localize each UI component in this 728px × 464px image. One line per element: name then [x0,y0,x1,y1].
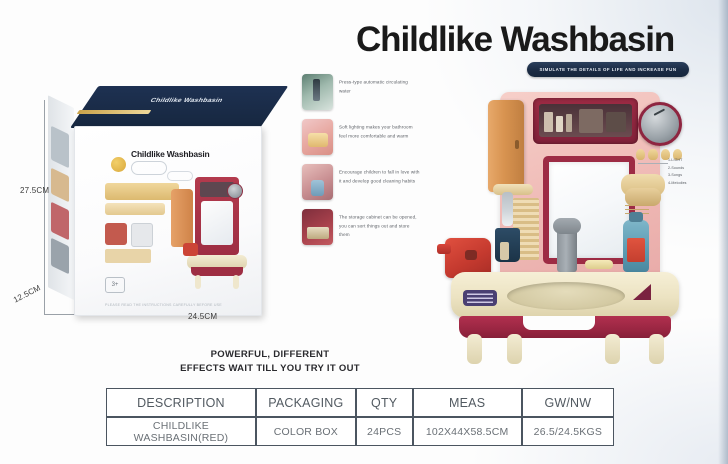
callout-item: 4-Melodies [668,180,724,188]
feature-text: The storage cabinet can be opened, you c… [339,209,420,239]
table-header-cell: MEAS [413,388,522,417]
product-leg [605,334,620,364]
package-art-square-1 [105,223,127,245]
callout-item: 3-Songs [668,172,724,180]
product-sell-sheet: Childlike Washbasin SIMULATE THE DETAILS… [0,0,728,464]
table-header-row: DESCRIPTION PACKAGING QTY MEAS GW/NW [106,388,614,417]
callout-list: 1-LIGHT 2-Sounds 3-Songs 4-Melodies [668,157,724,187]
clock-icon [227,183,243,199]
age-badge: 3+ [105,277,125,293]
spec-table: DESCRIPTION PACKAGING QTY MEAS GW/NW CHI… [106,388,614,446]
package-front-brand: Childlike Washbasin [131,149,251,159]
feature-thumb-cabinet [302,209,333,245]
toy-cabinet [171,189,193,247]
package-art-band-2 [105,203,165,215]
callout-leader-line [638,163,668,164]
package-toy-illustration [171,171,247,289]
page-title: Childlike Washbasin [356,22,696,59]
package-footnote: PLEASE READ THE INSTRUCTIONS CAREFULLY B… [105,303,245,307]
feature-item: The storage cabinet can be opened, you c… [302,209,420,245]
product-wave-decal [463,290,497,306]
product-towel [493,184,533,195]
cloud-icon [131,161,167,175]
table-header-cell: PACKAGING [256,388,356,417]
toy-kettle [183,243,198,256]
table-cell-description: CHILDLIKE WASHBASIN(RED) [106,417,256,446]
package-top-brand: Childlike Washbasin [124,98,248,105]
product-leg [507,334,522,364]
table-cell-meas: 102X44X58.5CM [413,417,522,446]
table-header-cell: DESCRIPTION [106,388,256,417]
faucet-head [553,218,581,234]
feature-item: Press-type automatic circulating water [302,74,420,110]
subtitle-ribbon-label: SIMULATE THE DETAILS OF LIFE AND INCREAS… [539,67,676,72]
tagline: POWERFUL, DIFFERENT EFFECTS WAIT TILL YO… [150,348,390,376]
product-bottle-cap [629,212,643,222]
dimension-width-label: 24.5CM [188,312,217,321]
shelf-item-5 [606,112,626,132]
table-cell-gwnw: 26.5/24.5KGS [522,417,614,446]
package-top-stripe [77,110,152,114]
package-box-mockup: Childlike Washbasin Childlike Washbasin [48,86,278,321]
toy-leg-right [233,275,239,289]
dimension-height-label: 27.5CM [20,186,49,195]
feature-item: Encourage children to fall in love with … [302,164,420,200]
package-front-face: Childlike Washbasin 3+ PLEASE READ THE I… [74,126,262,316]
feature-text: Press-type automatic circulating water [339,74,420,96]
product-cup-contents [500,242,509,260]
toy-leg-left [195,275,201,289]
dimension-depth-label: 12.5CM [12,283,42,304]
product-leg [467,334,482,364]
product-photo [445,92,685,360]
product-kettle-spout [437,244,451,254]
shelf-item-4 [579,109,603,133]
product-bottle-label [627,238,645,262]
table-cell-packaging: COLOR BOX [256,417,356,446]
subtitle-ribbon: SIMULATE THE DETAILS OF LIFE AND INCREAS… [527,62,689,77]
package-art-square-3 [105,249,151,263]
product-base-notch [523,316,595,330]
feature-text: Soft lighting makes your bathroom feel m… [339,119,420,141]
package-top-face [70,86,288,128]
feature-thumb-lighting [302,119,333,155]
package-art-square-2 [131,223,153,247]
toothbrush-icon [502,192,513,226]
dimension-leader-vertical [44,100,45,315]
callout-item: 2-Sounds [668,165,724,173]
product-kettle-badge [465,250,477,260]
package-art-band-1 [105,183,179,200]
table-header-cell: GW/NW [522,388,614,417]
product-side-accent [633,284,651,300]
feature-item: Soft lighting makes your bathroom feel m… [302,119,420,155]
table-row: CHILDLIKE WASHBASIN(RED) COLOR BOX 24PCS… [106,417,614,446]
callout-item: 1-LIGHT [668,157,724,165]
feature-thumb-faucet [302,74,333,110]
product-soap-bar [585,260,613,269]
toy-mirror [201,201,233,245]
shelf-item-1 [544,112,553,132]
product-leg [649,334,664,364]
table-header-cell: QTY [356,388,413,417]
product-cabinet-knob [515,140,519,149]
right-edge-shadow [718,0,728,464]
shelf-item-2 [556,116,563,132]
shelf-item-3 [566,114,572,132]
feature-thumb-child [302,164,333,200]
feature-text: Encourage children to fall in love with … [339,164,420,186]
clock-icon [638,102,682,146]
product-sink-basin [507,282,625,310]
sun-icon [111,157,126,172]
table-cell-qty: 24PCS [356,417,413,446]
